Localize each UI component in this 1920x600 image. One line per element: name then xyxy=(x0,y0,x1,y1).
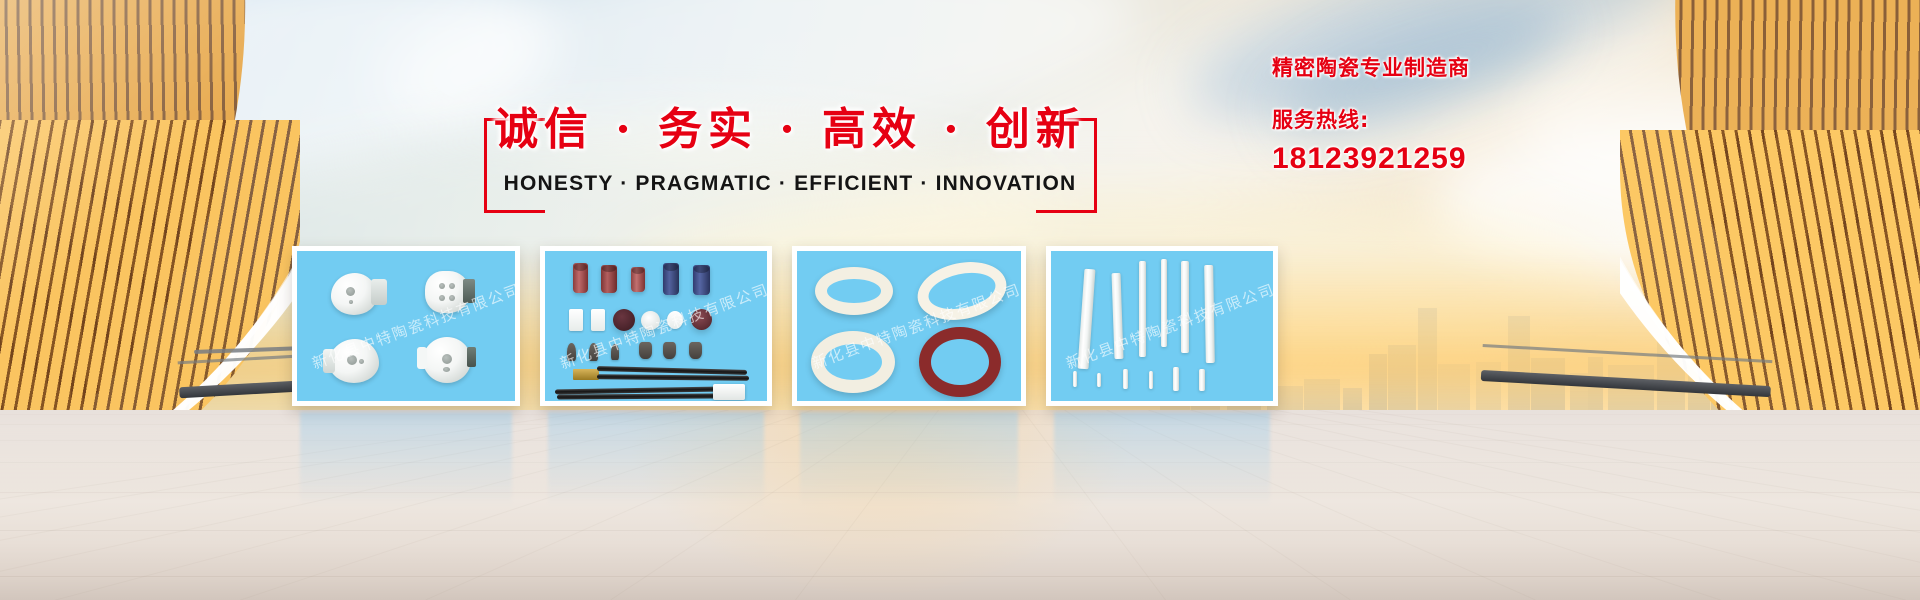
product-panel-1-image: 新化县中特陶瓷科技有限公司 xyxy=(297,251,515,401)
ceramic-tube xyxy=(631,267,645,292)
ceramic-pin xyxy=(1123,369,1128,389)
ceramic-rod xyxy=(1139,261,1146,357)
metal-blade xyxy=(567,343,576,361)
railing-thin-bar xyxy=(1483,344,1773,363)
seal-ring xyxy=(613,309,635,331)
floor-tile-line xyxy=(0,576,1920,577)
slogan-english: HONESTY · PRAGMATIC · EFFICIENT · INNOVA… xyxy=(470,172,1110,196)
ceramic-ring xyxy=(811,331,895,393)
watermark: 新化县中特陶瓷科技有限公司 xyxy=(1063,278,1273,373)
ceramic-pin xyxy=(1073,371,1077,387)
socket-base xyxy=(371,279,387,305)
railing-bar xyxy=(1481,370,1771,397)
hero-banner: 诚信 · 务实 · 高效 · 创新 HONESTY · PRAGMATIC · … xyxy=(0,0,1920,600)
ceramic-ring xyxy=(641,311,660,330)
ceramic-rod xyxy=(1078,269,1096,370)
seal-ring xyxy=(691,309,712,330)
seal-ring xyxy=(919,327,1001,397)
metal-terminal xyxy=(663,342,676,359)
panel-reflection xyxy=(300,412,512,532)
product-panel-4-image: 新化县中特陶瓷科技有限公司 xyxy=(1051,251,1273,401)
product-panel-2[interactable]: 新化县中特陶瓷科技有限公司 xyxy=(540,246,772,406)
hotline-label: 服务热线: xyxy=(1272,104,1692,134)
ceramic-chip xyxy=(569,309,583,331)
contact-block: 精密陶瓷专业制造商 服务热线: 18123921259 xyxy=(1272,52,1692,176)
product-panel-1[interactable]: 新化县中特陶瓷科技有限公司 xyxy=(292,246,520,406)
ceramic-ring xyxy=(912,254,1012,327)
ceramic-pin xyxy=(1149,371,1153,389)
ceramic-socket xyxy=(329,339,379,383)
ceramic-disc xyxy=(667,311,683,329)
product-panel-4[interactable]: 新化县中特陶瓷科技有限公司 xyxy=(1046,246,1278,406)
panel-reflection xyxy=(548,412,764,532)
panel-reflection xyxy=(1054,412,1270,532)
metal-terminal xyxy=(639,342,652,359)
socket-flange xyxy=(323,349,335,373)
ceramic-rod xyxy=(1112,273,1124,359)
ceramic-pin xyxy=(1173,367,1179,391)
ceramic-tube xyxy=(693,265,710,295)
metal-blade xyxy=(589,343,598,361)
metal-blade xyxy=(611,344,619,360)
ceramic-pin xyxy=(1199,369,1205,391)
ceramic-ring xyxy=(815,267,893,315)
hotline-number[interactable]: 18123921259 xyxy=(1272,142,1692,176)
ceramic-tube xyxy=(601,265,617,293)
wire-connector xyxy=(573,369,599,380)
wire-connector xyxy=(713,384,745,400)
product-panel-2-image: 新化县中特陶瓷科技有限公司 xyxy=(545,251,767,401)
socket-contact xyxy=(463,279,475,303)
ceramic-rod xyxy=(1204,265,1215,363)
product-panels: 新化县中特陶瓷科技有限公司 xyxy=(292,246,1492,406)
ceramic-rod xyxy=(1161,259,1167,347)
company-tagline: 精密陶瓷专业制造商 xyxy=(1272,52,1692,82)
ceramic-socket xyxy=(423,337,471,383)
ceramic-rod xyxy=(1181,261,1189,353)
wire xyxy=(597,374,749,381)
product-panel-3-image: 新化县中特陶瓷科技有限公司 xyxy=(797,251,1021,401)
ceramic-tube xyxy=(573,263,588,293)
socket-contact xyxy=(467,347,476,367)
ceramic-chip xyxy=(591,309,605,331)
product-panel-3[interactable]: 新化县中特陶瓷科技有限公司 xyxy=(792,246,1026,406)
ceramic-tube xyxy=(663,263,679,295)
slogan-chinese: 诚信 · 务实 · 高效 · 创新 xyxy=(470,100,1110,160)
ceramic-pin xyxy=(1097,373,1101,387)
socket-flange xyxy=(417,347,427,369)
wire xyxy=(557,393,717,399)
slogan-block: 诚信 · 务实 · 高效 · 创新 HONESTY · PRAGMATIC · … xyxy=(470,100,1110,200)
panel-reflection xyxy=(800,412,1018,532)
metal-terminal xyxy=(689,342,702,359)
